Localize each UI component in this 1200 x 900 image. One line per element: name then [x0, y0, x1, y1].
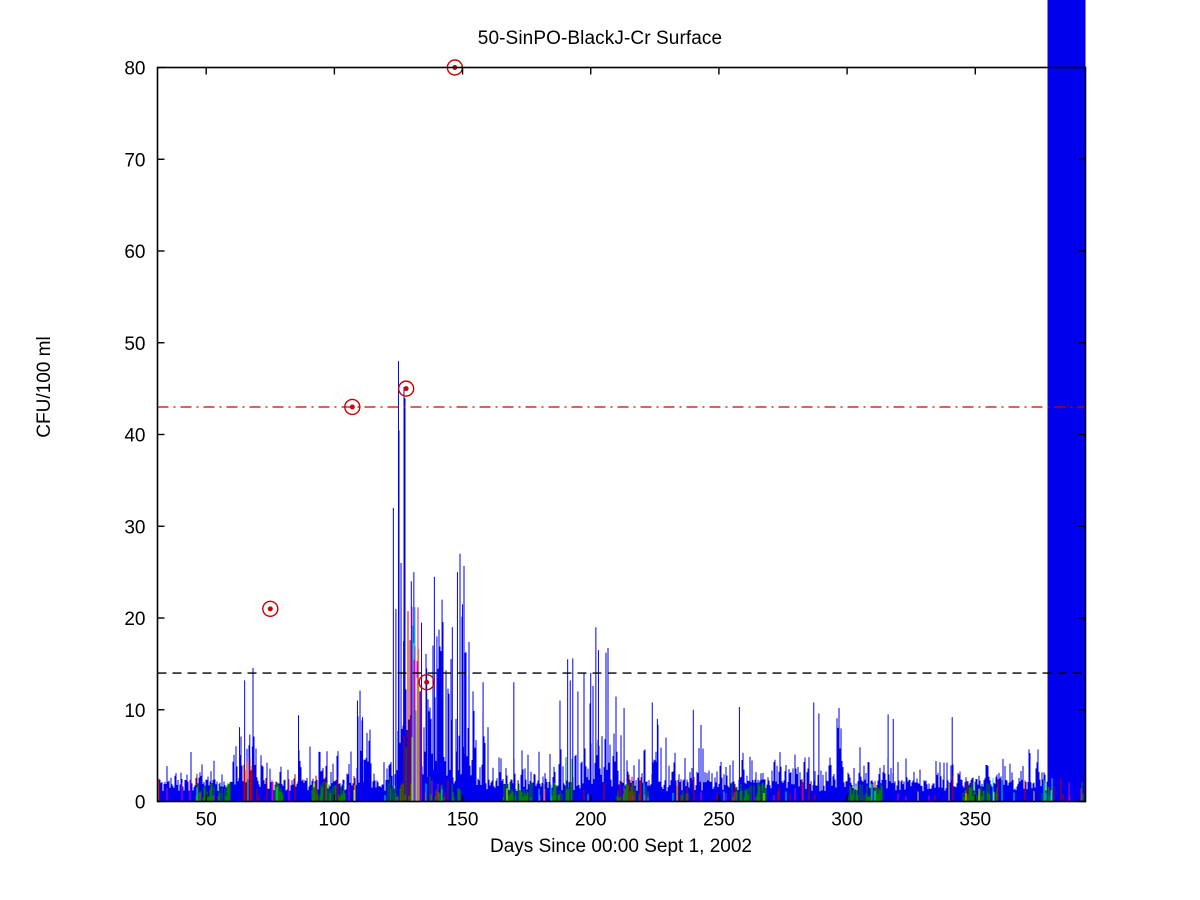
- y-tick-label: 10: [124, 701, 145, 722]
- y-tick-label: 0: [135, 793, 146, 814]
- y-tick-label: 70: [124, 150, 145, 171]
- observation-marker-dot: [404, 387, 408, 391]
- y-tick-label: 20: [124, 609, 145, 630]
- y-tick-label: 40: [124, 426, 145, 447]
- observation-marker[interactable]: [263, 601, 278, 616]
- y-tick-label: 60: [124, 242, 145, 263]
- x-tick-label: 150: [447, 810, 479, 831]
- figure-canvas: 50-SinPO-BlackJ-Cr Surface CFU/100 ml Da…: [0, 0, 1200, 900]
- x-tick-label: 300: [831, 810, 863, 831]
- data-series-layer: [159, 0, 1085, 802]
- series-red: [159, 611, 1085, 802]
- observation-marker[interactable]: [399, 381, 414, 396]
- tick-label-layer: 0102030405060708050100150200250300350: [124, 59, 991, 831]
- y-tick-label: 50: [124, 334, 145, 355]
- x-tick-label: 200: [575, 810, 607, 831]
- observation-marker-dot: [268, 607, 272, 611]
- plot-area: 0102030405060708050100150200250300350: [0, 0, 1200, 900]
- x-tick-label: 50: [196, 810, 217, 831]
- series-blue: [159, 0, 1085, 802]
- x-tick-label: 250: [703, 810, 735, 831]
- x-tick-label: 100: [319, 810, 351, 831]
- observation-marker-dot: [425, 680, 429, 684]
- y-tick-label: 80: [124, 59, 145, 80]
- y-tick-label: 30: [124, 517, 145, 538]
- x-tick-label: 350: [959, 810, 991, 831]
- observation-markers-layer: [263, 60, 463, 690]
- observation-marker-dot: [350, 405, 354, 409]
- axis-layer: [158, 68, 1086, 802]
- reference-lines-layer: [158, 407, 1086, 673]
- axes-box: [158, 68, 1086, 802]
